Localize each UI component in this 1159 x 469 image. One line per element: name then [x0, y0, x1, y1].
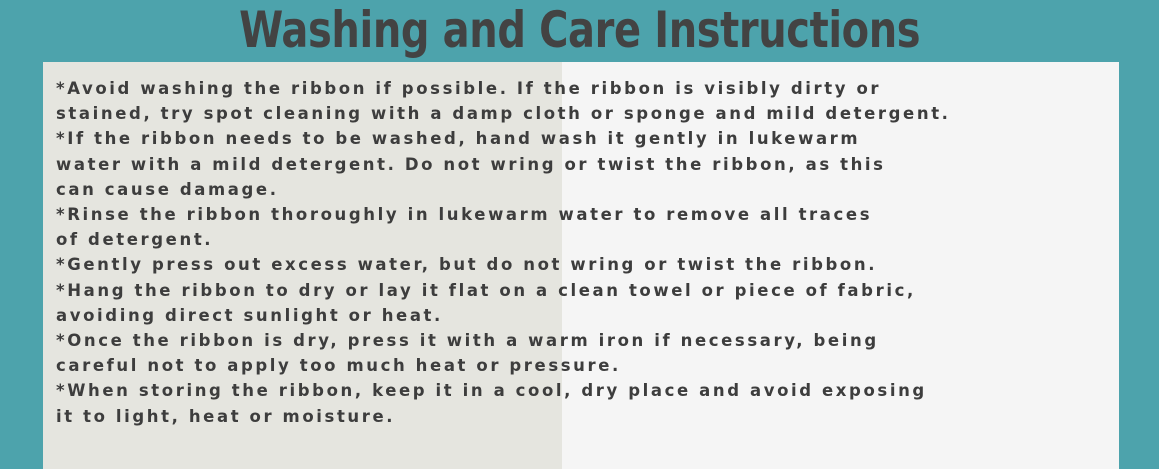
instruction-line: can cause damage. [56, 177, 1111, 202]
instruction-line: avoiding direct sunlight or heat. [56, 303, 1111, 328]
instruction-line: *Gently press out excess water, but do n… [56, 252, 1111, 277]
instruction-line: *Rinse the ribbon thoroughly in lukewarm… [56, 202, 1111, 227]
instruction-line: *If the ribbon needs to be washed, hand … [56, 126, 1111, 151]
instruction-line: *When storing the ribbon, keep it in a c… [56, 378, 1111, 403]
instruction-line: it to light, heat or moisture. [56, 404, 1111, 429]
instruction-line: stained, try spot cleaning with a damp c… [56, 101, 1111, 126]
title-bar: Washing and Care Instructions [0, 0, 1159, 60]
instruction-line: careful not to apply too much heat or pr… [56, 353, 1111, 378]
instruction-line: water with a mild detergent. Do not wrin… [56, 152, 1111, 177]
poster-canvas: Washing and Care Instructions *Avoid was… [0, 0, 1159, 469]
instruction-line: *Once the ribbon is dry, press it with a… [56, 328, 1111, 353]
page-title: Washing and Care Instructions [239, 5, 920, 55]
instructions-panel: *Avoid washing the ribbon if possible. I… [43, 62, 1119, 469]
instruction-line: of detergent. [56, 227, 1111, 252]
instructions-list: *Avoid washing the ribbon if possible. I… [56, 76, 1111, 429]
instruction-line: *Avoid washing the ribbon if possible. I… [56, 76, 1111, 101]
instruction-line: *Hang the ribbon to dry or lay it flat o… [56, 278, 1111, 303]
